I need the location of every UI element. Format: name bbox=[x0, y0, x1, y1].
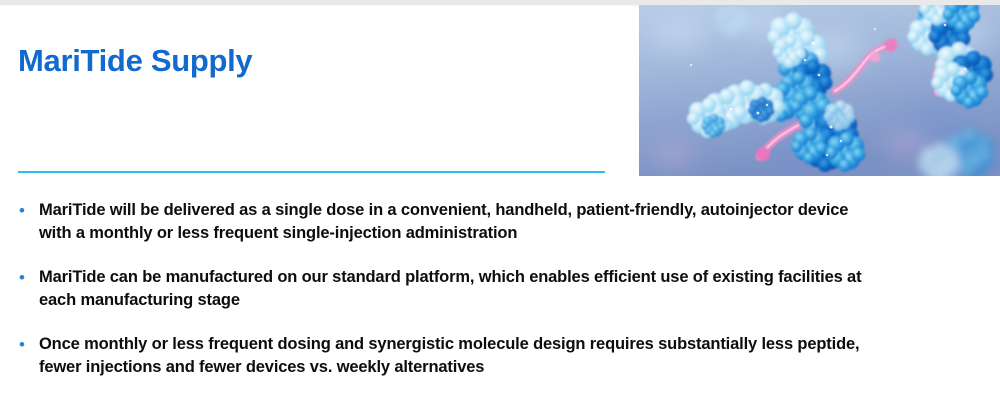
bullet-list: • MariTide will be delivered as a single… bbox=[18, 199, 918, 379]
bullet-dot-icon: • bbox=[18, 266, 39, 289]
page-title: MariTide Supply bbox=[18, 43, 252, 79]
bullet-text: MariTide can be manufactured on our stan… bbox=[39, 266, 879, 312]
bullet-text: MariTide will be delivered as a single d… bbox=[39, 199, 879, 245]
molecule-hero-image bbox=[639, 5, 1000, 176]
slide-root: MariTide Supply • MariTide will be deliv… bbox=[0, 0, 1000, 405]
bullet-dot-icon: • bbox=[18, 333, 39, 356]
list-item: • MariTide can be manufactured on our st… bbox=[18, 266, 918, 312]
title-divider-rule bbox=[18, 171, 605, 173]
bullet-text: Once monthly or less frequent dosing and… bbox=[39, 333, 879, 379]
antibody-molecule-illustration bbox=[639, 5, 1000, 176]
list-item: • Once monthly or less frequent dosing a… bbox=[18, 333, 918, 379]
list-item: • MariTide will be delivered as a single… bbox=[18, 199, 918, 245]
bullet-dot-icon: • bbox=[18, 199, 39, 222]
